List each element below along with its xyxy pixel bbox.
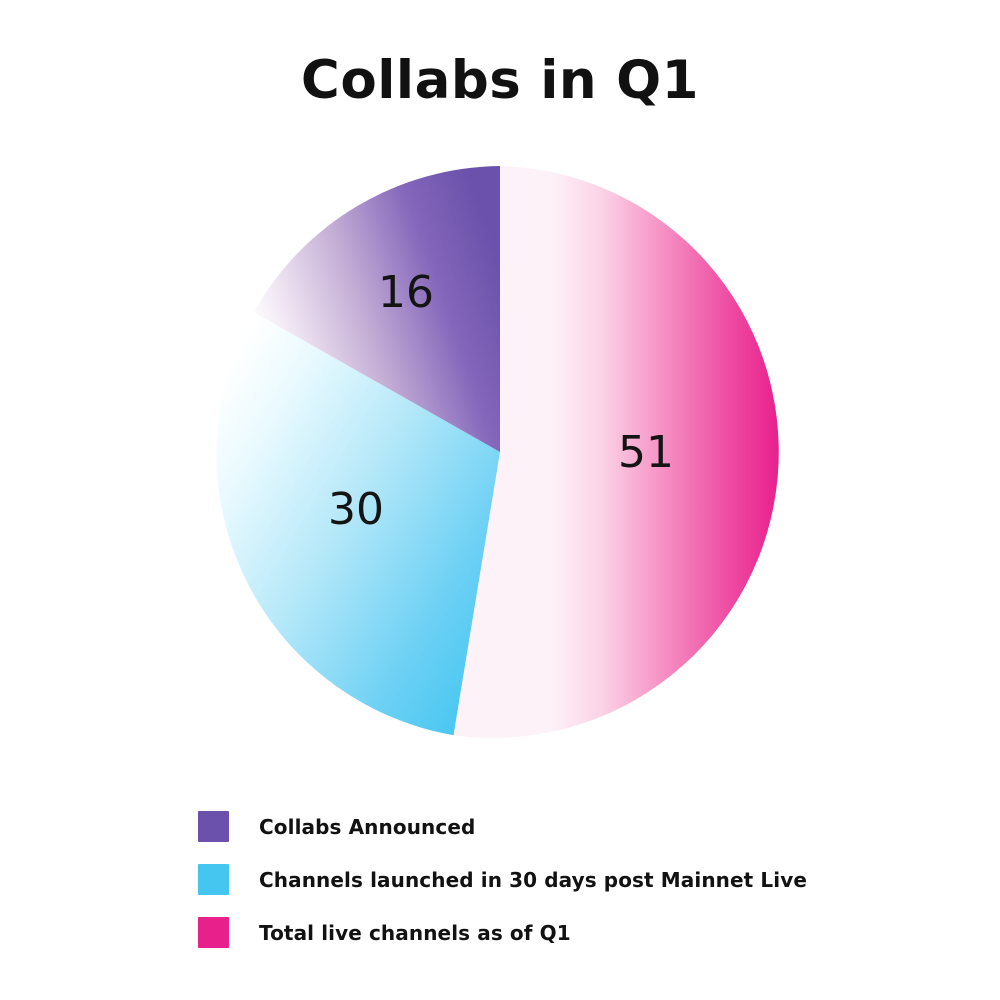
legend-label-total-live-channels: Total live channels as of Q1	[259, 921, 571, 945]
chart-legend: Collabs Announced Channels launched in 3…	[198, 800, 958, 959]
legend-item-channels-launched[interactable]: Channels launched in 30 days post Mainne…	[198, 853, 958, 906]
legend-item-collabs-announced[interactable]: Collabs Announced	[198, 800, 958, 853]
slice-value-total-live-channels: 51	[618, 427, 674, 478]
pie-slice-total-live-channels[interactable]	[454, 166, 779, 738]
slice-value-channels-launched: 30	[328, 484, 384, 535]
slice-value-collabs-announced: 16	[378, 267, 434, 318]
legend-label-channels-launched: Channels launched in 30 days post Mainne…	[259, 868, 807, 892]
legend-swatch-icon-cyan	[198, 864, 229, 895]
legend-swatch-icon-magenta	[198, 917, 229, 948]
pie-svg: 16 30 51	[0, 0, 1000, 790]
legend-swatch-icon-purple	[198, 811, 229, 842]
pie-chart-figure: Collabs in Q1	[0, 0, 1000, 1000]
legend-item-total-live-channels[interactable]: Total live channels as of Q1	[198, 906, 958, 959]
pie-plot-area: 16 30 51	[0, 0, 1000, 790]
legend-label-collabs-announced: Collabs Announced	[259, 815, 475, 839]
